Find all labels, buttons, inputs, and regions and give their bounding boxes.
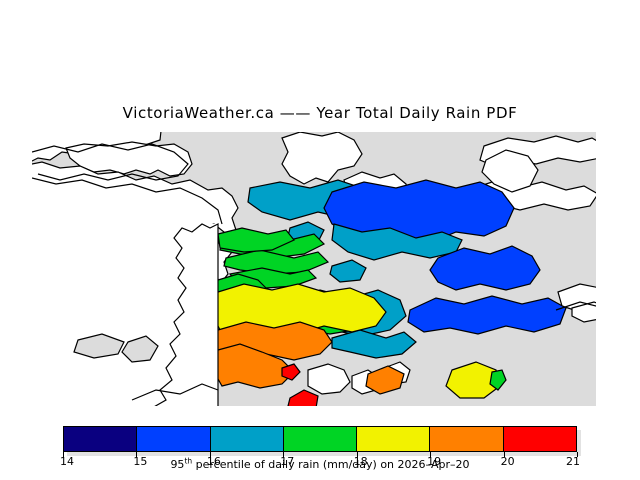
- map-canvas[interactable]: [32, 132, 596, 406]
- colorbar-band-17-18[interactable]: [284, 427, 357, 451]
- colorbar-band-16-17[interactable]: [211, 427, 284, 451]
- colorbar-band-15-16[interactable]: [137, 427, 210, 451]
- region-east-far-island: [408, 296, 566, 334]
- colorbar-band-18-19[interactable]: [357, 427, 430, 451]
- map-panel[interactable]: [32, 132, 596, 406]
- caption-description: percentile of daily rain (mm/day) on 202…: [192, 458, 469, 471]
- caption-ordinal-suffix: th: [184, 456, 192, 465]
- caption-percentile-number: 95: [170, 458, 184, 471]
- page-title: VictoriaWeather.ca —— Year Total Daily R…: [0, 104, 640, 122]
- colorbar-bands[interactable]: [63, 426, 577, 452]
- colorbar-band-14-15[interactable]: [64, 427, 137, 451]
- colorbar-caption: 95th percentile of daily rain (mm/day) o…: [0, 458, 640, 471]
- colorbar-band-20-21[interactable]: [504, 427, 576, 451]
- colorbar-band-19-20[interactable]: [430, 427, 503, 451]
- colorbar[interactable]: [63, 426, 577, 452]
